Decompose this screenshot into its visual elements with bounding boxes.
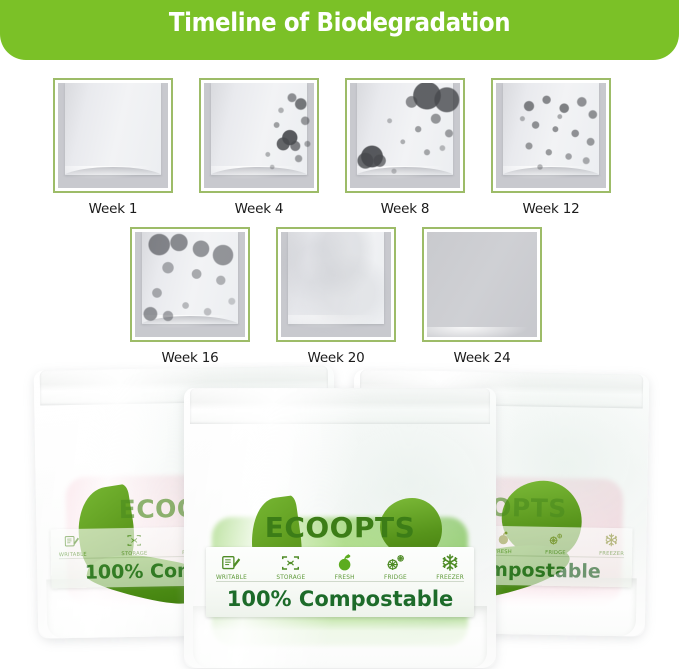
apple-fruit-icon (336, 554, 354, 575)
biodegradation-photo-week-16 (135, 232, 245, 337)
timeline-label: Week 8 (381, 201, 430, 217)
feature-label: WRITABLE (216, 575, 247, 581)
feature-label: FRIDGE (384, 575, 407, 581)
feature-fridge: FRIDGE (384, 554, 407, 581)
feature-storage: STORAGE (121, 534, 147, 557)
feature-label: WRITABLE (59, 552, 87, 558)
biodegradation-photo-week-24 (427, 232, 537, 337)
storage-box-icon (281, 555, 300, 575)
biodegradation-photo-week-20 (281, 232, 391, 337)
snowflake-icon (441, 554, 459, 575)
storage-box-icon (127, 534, 142, 551)
feature-label: STORAGE (121, 551, 147, 557)
timeline-label: Week 1 (89, 201, 138, 217)
pen-writing-icon (65, 535, 80, 552)
timeline-item-week-24[interactable]: Week 24 (422, 227, 542, 366)
feature-icon-strip: WRITABLE STORAGE FRESH (216, 554, 464, 582)
zipper-seal (190, 388, 490, 424)
feature-label: STORAGE (276, 575, 305, 581)
timeline-item-week-20[interactable]: Week 20 (276, 227, 396, 366)
decay-overlay (350, 83, 460, 188)
feature-writable: WRITABLE (216, 555, 247, 581)
product-bag-center[interactable]: ECOOPTS WRITABLE STORAGE (184, 388, 496, 668)
header-banner: Timeline of Biodegradation (0, 0, 679, 60)
feature-fresh: FRESH (335, 554, 355, 581)
feature-label: FRESH (494, 548, 512, 554)
brand-name: ECOOPTS (265, 511, 416, 544)
timeline-thumbnail-frame[interactable] (276, 227, 396, 342)
decay-overlay (496, 83, 606, 188)
timeline-label: Week 12 (522, 201, 579, 217)
feature-freezer: FREEZER (599, 532, 624, 556)
decay-overlay (135, 232, 245, 337)
pen-writing-icon (222, 555, 241, 575)
timeline-item-week-8[interactable]: Week 8 (345, 78, 465, 217)
timeline-row-1: Week 1 Week 4 Week 8 Week 12 (53, 78, 611, 217)
apple-fruit-icon (496, 530, 510, 548)
compostable-claim: 100% Compostable (216, 587, 464, 611)
timeline-label: Week 4 (235, 201, 284, 217)
cold-bubbles-icon (386, 554, 405, 575)
timeline-thumbnail-frame[interactable] (199, 78, 319, 193)
feature-storage: STORAGE (276, 555, 305, 581)
timeline-thumbnail-frame[interactable] (422, 227, 542, 342)
timeline-thumbnail-frame[interactable] (345, 78, 465, 193)
feature-writable: WRITABLE (59, 535, 87, 558)
brand-name-row: ECOOPTS (184, 511, 496, 544)
feature-fresh: FRESH (494, 530, 512, 554)
decay-overlay (281, 232, 391, 337)
timeline-thumbnail-frame[interactable] (130, 227, 250, 342)
product-photo-group: ECOOPTS WRITABLE STORAGE (0, 362, 679, 669)
product-label-band: WRITABLE STORAGE FRESH (206, 547, 474, 617)
timeline-row-2: Week 16 Week 20 Week 24 (130, 227, 542, 366)
biodegradation-photo-week-1 (58, 83, 168, 188)
timeline-item-week-4[interactable]: Week 4 (199, 78, 319, 217)
feature-label: FRIDGE (545, 549, 566, 555)
feature-label: FREEZER (436, 575, 464, 581)
decay-overlay (204, 83, 314, 188)
feature-fridge: FRIDGE (545, 531, 566, 555)
biodegradation-photo-week-4 (204, 83, 314, 188)
biodegradation-photo-week-8 (350, 83, 460, 188)
timeline-item-week-16[interactable]: Week 16 (130, 227, 250, 366)
cold-bubbles-icon (548, 531, 563, 549)
timeline-item-week-1[interactable]: Week 1 (53, 78, 173, 217)
timeline-item-week-12[interactable]: Week 12 (491, 78, 611, 217)
page-title: Timeline of Biodegradation (41, 8, 639, 38)
snowflake-icon (605, 532, 619, 550)
biodegradation-photo-week-12 (496, 83, 606, 188)
feature-label: FREEZER (599, 550, 624, 556)
bag-branding: ECOOPTS WRITABLE STORAGE (184, 511, 496, 617)
feature-freezer: FREEZER (436, 554, 464, 581)
feature-label: FRESH (335, 575, 355, 581)
timeline-thumbnail-frame[interactable] (53, 78, 173, 193)
timeline-thumbnail-frame[interactable] (491, 78, 611, 193)
